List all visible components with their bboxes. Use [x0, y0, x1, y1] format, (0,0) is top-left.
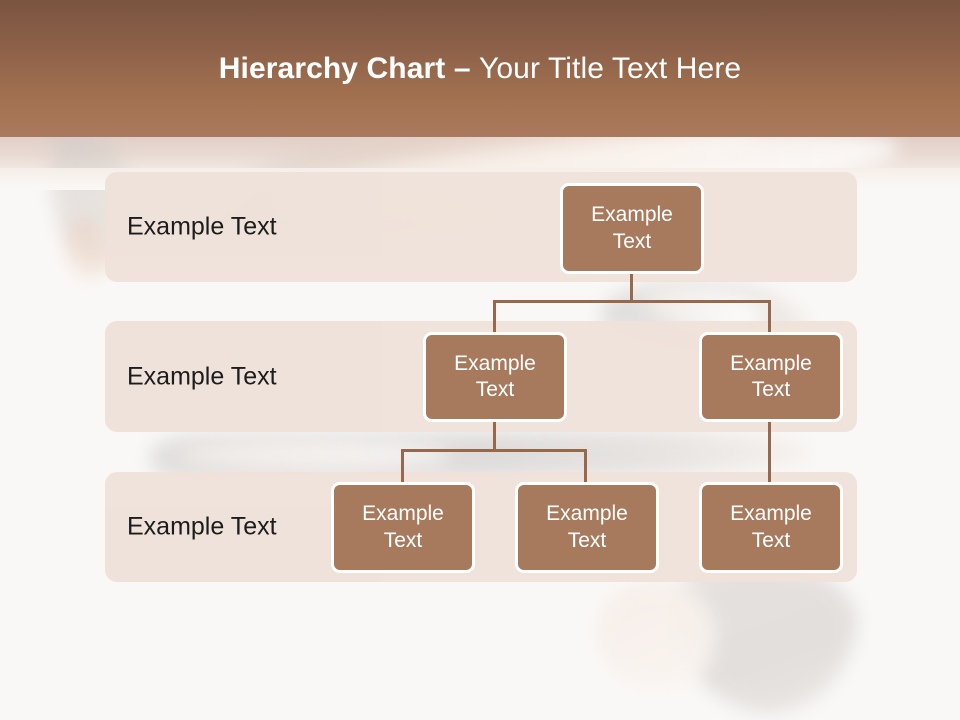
connector-n2-drop	[493, 300, 496, 332]
photo-band-upper	[0, 137, 960, 175]
row-label-2: Example Text	[127, 362, 277, 391]
page-title-bold: Hierarchy Chart	[219, 52, 454, 85]
node-n5[interactable]: ExampleText	[515, 482, 659, 573]
connector-n2-stem	[493, 422, 496, 451]
page-title-light: Your Title Text Here	[479, 52, 741, 85]
photo-shape-leg-highlight	[583, 566, 729, 705]
node-n1-label: ExampleText	[591, 202, 673, 255]
node-n6-label: ExampleText	[730, 501, 812, 554]
node-n3-label: ExampleText	[730, 351, 812, 404]
connector-level1-bus	[493, 300, 771, 303]
node-n3[interactable]: ExampleText	[699, 332, 843, 422]
photo-shape-grey-band-highlight	[180, 440, 450, 470]
connector-n6-drop	[768, 422, 771, 483]
page-title: Hierarchy Chart – Your Title Text Here	[219, 52, 741, 85]
row-label-3: Example Text	[127, 513, 277, 542]
connector-level2-bus	[401, 449, 587, 452]
node-n4[interactable]: ExampleText	[331, 482, 475, 573]
node-n2[interactable]: ExampleText	[423, 332, 567, 422]
connector-n1-stem	[630, 274, 633, 302]
connector-n4-drop	[401, 449, 404, 483]
node-n2-label: ExampleText	[454, 351, 536, 404]
slide-canvas: Hierarchy Chart – Your Title Text Here E…	[0, 0, 960, 720]
node-n1[interactable]: ExampleText	[560, 183, 704, 274]
page-title-dash: –	[454, 52, 479, 85]
connector-n5-drop	[584, 449, 587, 483]
node-n4-label: ExampleText	[362, 501, 444, 554]
row-label-1: Example Text	[127, 213, 277, 242]
photo-shape-finger	[61, 213, 112, 283]
connector-n3-drop	[768, 300, 771, 332]
node-n6[interactable]: ExampleText	[699, 482, 843, 573]
slide-header: Hierarchy Chart – Your Title Text Here	[0, 0, 960, 137]
row-band-1: Example Text	[105, 172, 857, 282]
node-n5-label: ExampleText	[546, 501, 628, 554]
